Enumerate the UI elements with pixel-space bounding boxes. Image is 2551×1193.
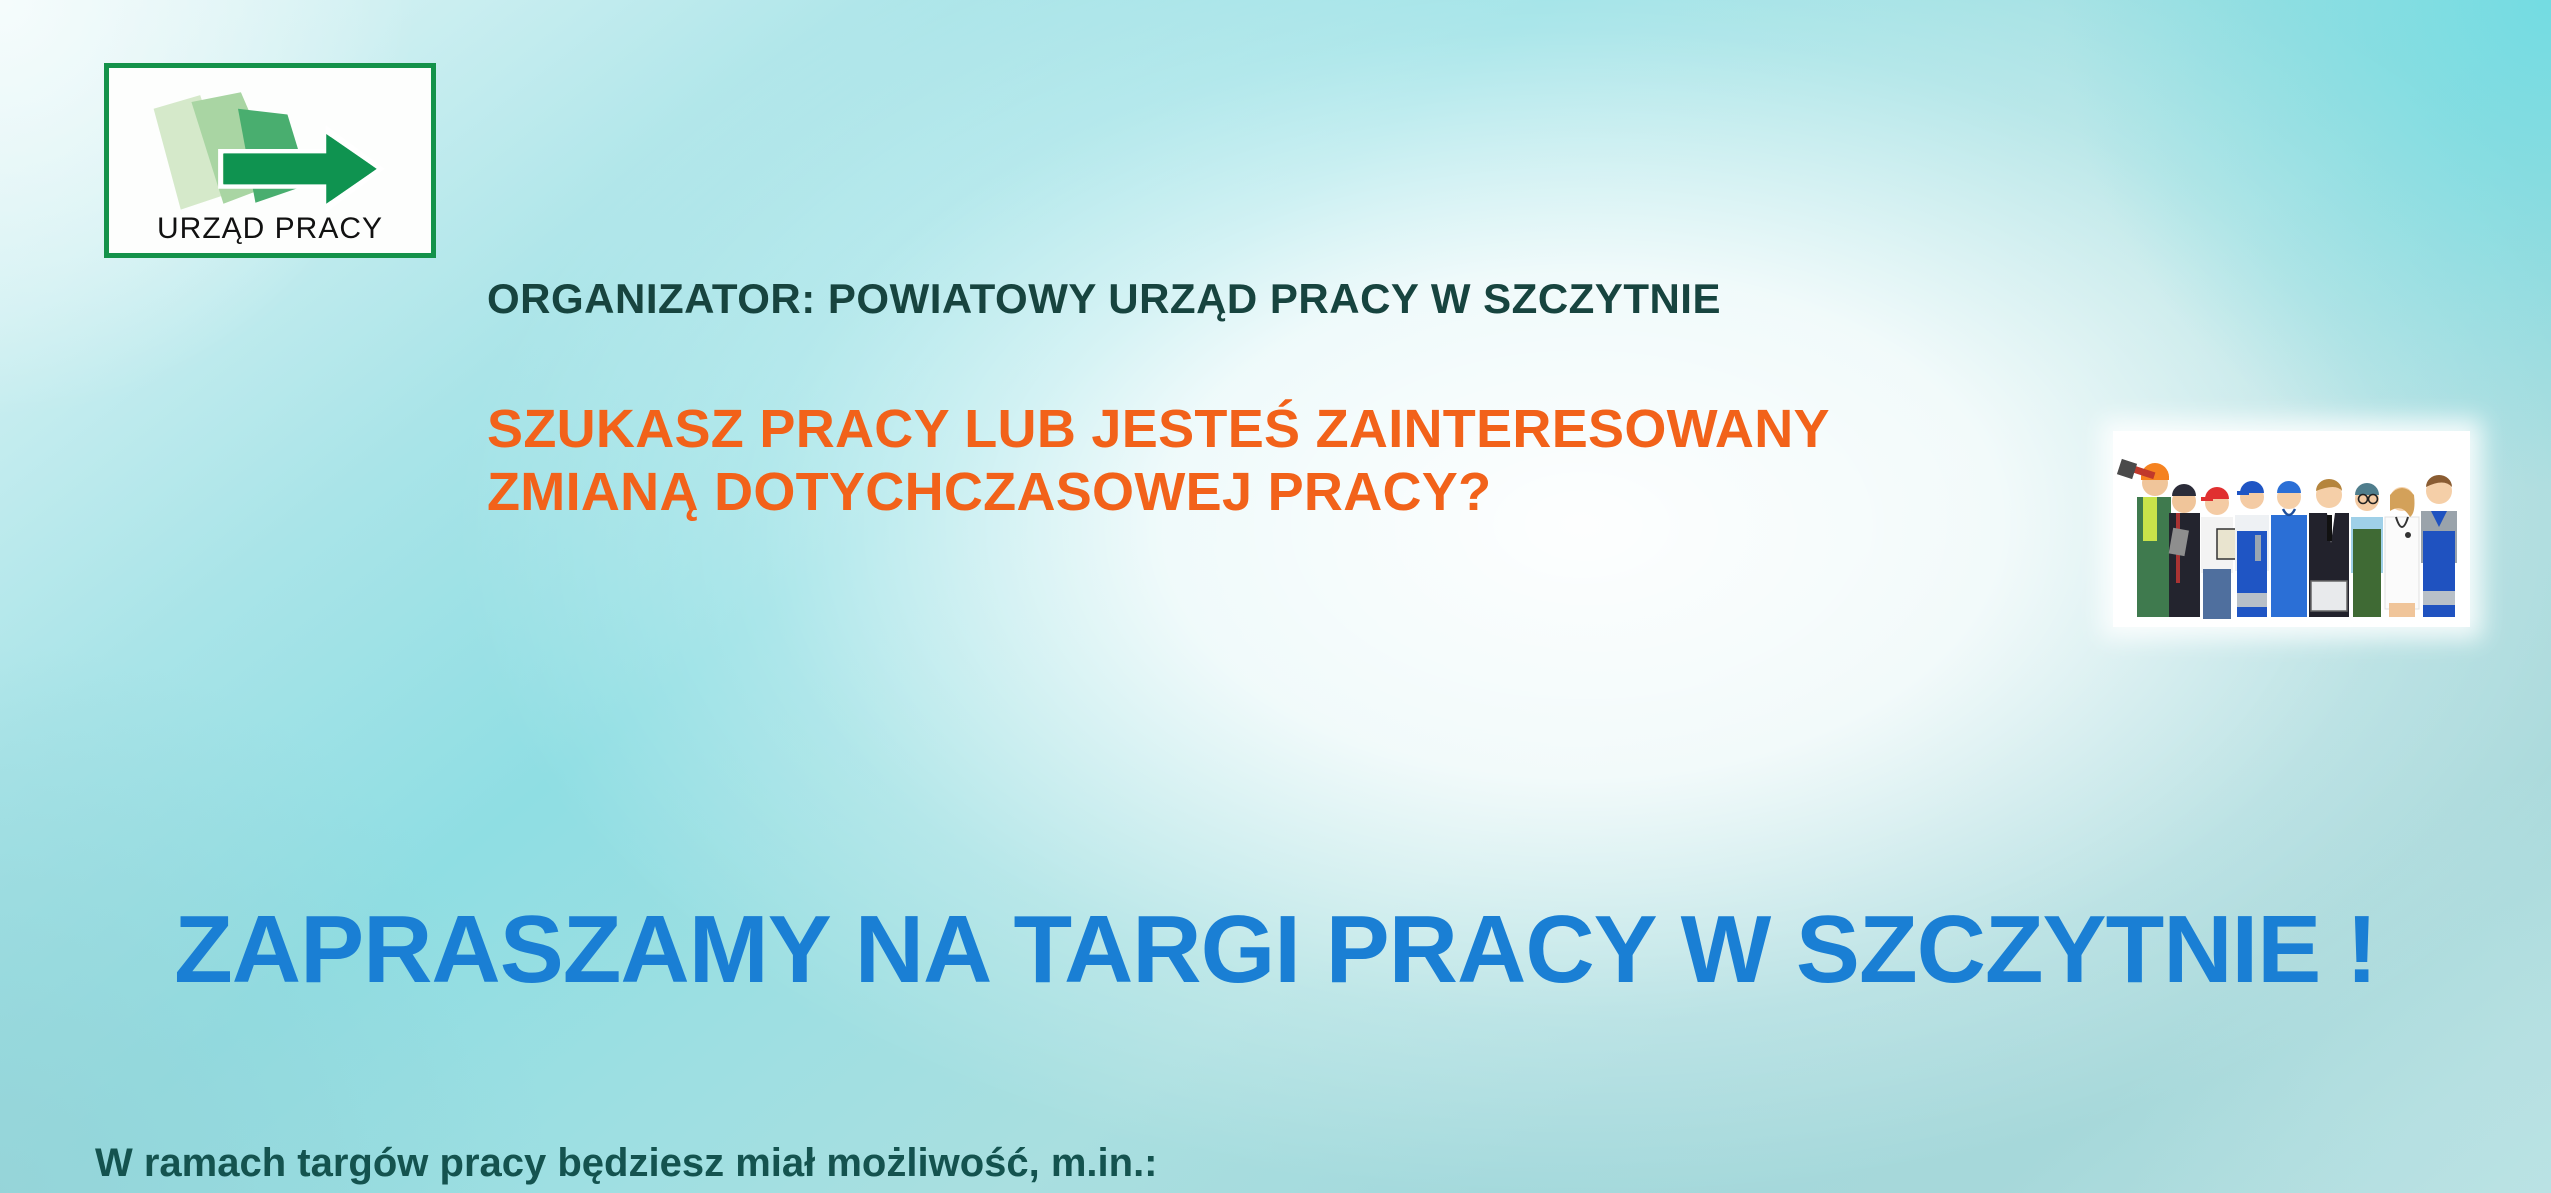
- benefits-intro: W ramach targów pracy będziesz miał możl…: [95, 1141, 1575, 1186]
- worker-chef: [2169, 484, 2200, 617]
- urzad-pracy-logo: URZĄD PRACY: [104, 63, 436, 258]
- organizer-line: ORGANIZATOR: POWIATOWY URZĄD PRACY W SZC…: [487, 275, 2551, 323]
- worker-doctor: [2385, 487, 2419, 617]
- workers-illustration: [2113, 431, 2470, 627]
- urzad-pracy-logo-caption: URZĄD PRACY: [109, 212, 431, 246]
- benefits-section: W ramach targów pracy będziesz miał możl…: [95, 1141, 1575, 1193]
- worker-gardener: [2351, 483, 2383, 617]
- group-of-workers-photo: [2113, 431, 2470, 627]
- page-title: ZAPRASZAMY NA TARGI PRACY W SZCZYTNIE !: [51, 895, 2501, 1005]
- job-fair-poster: URZĄD PRACY ORGANIZATOR: POWIATOWY URZĄD…: [0, 0, 2551, 1193]
